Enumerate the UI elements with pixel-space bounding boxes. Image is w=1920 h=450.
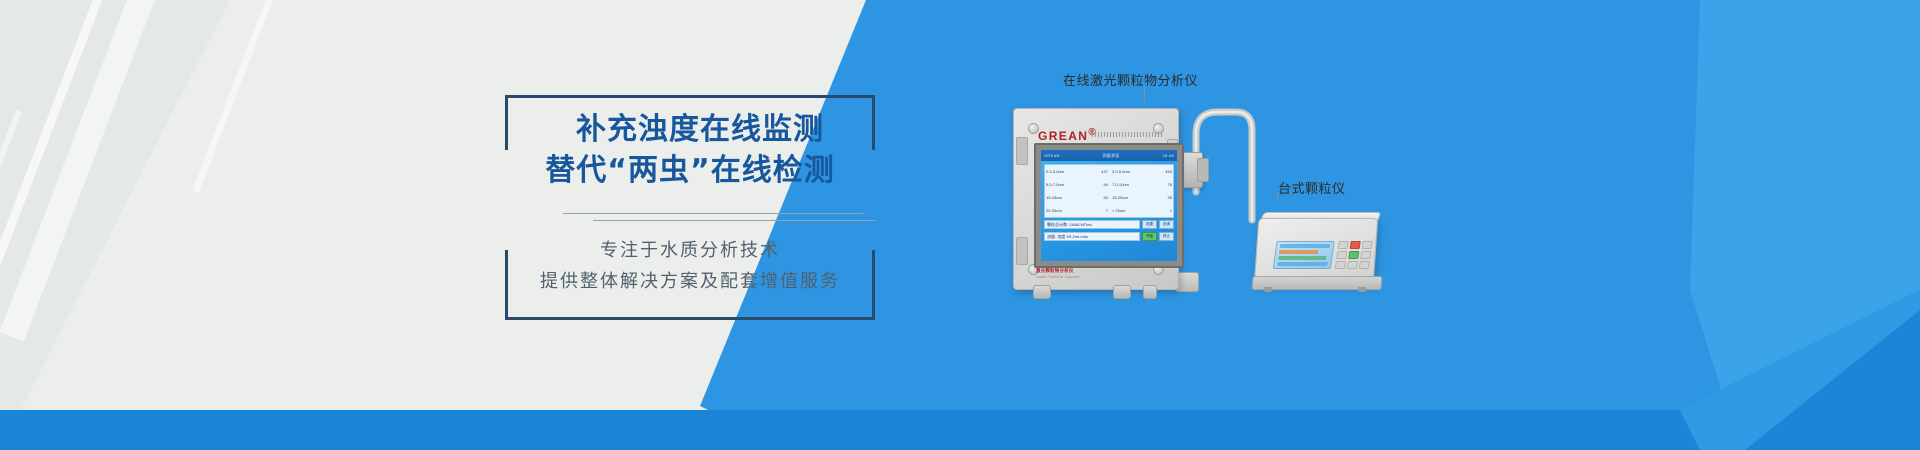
cell-range-b: 7.0-10um: [1109, 182, 1153, 187]
cell-count-b: 454: [1153, 169, 1173, 174]
screen-title-brand: GREAN: [1044, 153, 1060, 158]
bracket-top-line: [505, 95, 875, 98]
desktop-key[interactable]: [1359, 261, 1370, 269]
divider-group: [505, 213, 875, 227]
headline-line-2: 替代“两虫”在线检测: [505, 150, 875, 191]
cell-range-b: > 25um: [1109, 208, 1153, 213]
divider-line-2: [593, 220, 875, 221]
analyzer-footer-text: 激光颗粒物分析仪 Laser Particle Counter: [1036, 268, 1080, 279]
screen-total-field: 颗粒总计数: 1166CNT/mL: [1044, 220, 1140, 229]
table-row: 2.0-3.0um 447 3.0-5.0um 454: [1045, 165, 1173, 178]
desktop-screen-line-1: [1280, 244, 1331, 248]
screen-total-strip: 颗粒总计数: 1166CNT/mL 设置 查询: [1044, 220, 1174, 229]
analyzer-cable-gland-3: [1143, 285, 1157, 299]
bracket-bottom-line: [505, 317, 875, 320]
analyzer-cable-gland-1: [1033, 285, 1051, 299]
desktop-screen-line-3: [1278, 256, 1326, 260]
analyzer-enclosure: GREAN® GREAN 测量界面 09:46 2.0-3.0um 447 3.…: [1013, 108, 1179, 290]
desktop-key[interactable]: [1360, 251, 1371, 259]
analyzer-label: 在线激光颗粒物分析仪: [1063, 70, 1198, 89]
table-row: 10-15um 52 15-20um 35: [1045, 191, 1173, 204]
cell-count-b: 76: [1153, 182, 1173, 187]
screen-data-grid: 2.0-3.0um 447 3.0-5.0um 454 5.0-7.0um 94…: [1044, 164, 1174, 218]
subtitle-line-2: 提供整体解决方案及配套增值服务: [505, 266, 875, 297]
desktop-key[interactable]: [1335, 261, 1346, 269]
cell-range-a: 5.0-7.0um: [1045, 182, 1089, 187]
cell-range-a: 20-25um: [1045, 208, 1089, 213]
screen-title-clock: 09:46: [1162, 153, 1174, 158]
cell-count-b: 1: [1153, 208, 1173, 213]
analyzer-footer-line-2: Laser Particle Counter: [1036, 274, 1080, 279]
table-row: 20-25um 7 > 25um 1: [1045, 204, 1173, 217]
desktop-screen[interactable]: [1273, 241, 1335, 269]
cell-count-a: 52: [1089, 195, 1109, 200]
analyzer-display-bezel: GREAN 测量界面 09:46 2.0-3.0um 447 3.0-5.0um…: [1034, 143, 1184, 268]
desktop-screen-line-4: [1277, 262, 1328, 266]
analyzer-brand-text: GREAN: [1038, 129, 1088, 143]
cell-count-a: 94: [1089, 182, 1109, 187]
desktop-key-red[interactable]: [1350, 241, 1361, 249]
cell-range-b: 3.0-5.0um: [1109, 169, 1153, 174]
desktop-label: 台式颗粒仪: [1278, 178, 1346, 197]
desktop-key[interactable]: [1347, 261, 1358, 269]
screen-query-button[interactable]: 查询: [1159, 220, 1174, 229]
analyzer-cable-gland-2: [1113, 285, 1131, 299]
subtitle-line-1: 专注于水质分析技术: [505, 235, 875, 266]
screen-settings-button[interactable]: 设置: [1142, 220, 1157, 229]
subtitle: 专注于水质分析技术 提供整体解决方案及配套增值服务: [505, 235, 875, 297]
table-row: 5.0-7.0um 94 7.0-10um 76: [1045, 178, 1173, 191]
cell-range-a: 2.0-3.0um: [1045, 169, 1089, 174]
analyzer-hinge-bottom: [1016, 237, 1028, 265]
desktop-screen-line-2: [1279, 250, 1319, 254]
headline-panel: 补充浊度在线监测 替代“两虫”在线检测 专注于水质分析技术 提供整体解决方案及配…: [505, 95, 875, 320]
screen-start-button[interactable]: 开始: [1142, 232, 1157, 241]
desktop-key[interactable]: [1336, 251, 1347, 259]
analyzer-brand-rule: [1092, 132, 1162, 137]
desktop-label-leader: [1277, 192, 1278, 202]
screen-title-center: 测量界面: [1103, 153, 1120, 159]
headline: 补充浊度在线监测 替代“两虫”在线检测: [505, 109, 875, 191]
cell-count-a: 7: [1089, 208, 1109, 213]
analyzer-brand-logo: GREAN®: [1038, 127, 1097, 143]
desktop-foot-right: [1358, 287, 1366, 292]
desktop-key-green[interactable]: [1348, 251, 1359, 259]
promo-banner: 补充浊度在线监测 替代“两虫”在线检测 专注于水质分析技术 提供整体解决方案及配…: [0, 0, 1920, 450]
desktop-keypad[interactable]: [1335, 241, 1373, 271]
desktop-foot-left: [1264, 287, 1272, 292]
screen-flow-strip: 流量: 浓度 1R.2mL/min 开始 停止: [1044, 232, 1174, 241]
screen-titlebar: GREAN 测量界面 09:46: [1041, 150, 1177, 161]
analyzer-hinge-top: [1016, 137, 1028, 165]
analyzer-connector-cap: [1197, 158, 1209, 182]
cell-range-a: 10-15um: [1045, 195, 1089, 200]
headline-line-1: 补充浊度在线监测: [505, 109, 875, 150]
online-laser-particle-analyzer: GREAN® GREAN 测量界面 09:46 2.0-3.0um 447 3.…: [1005, 100, 1185, 295]
desktop-chassis: [1254, 218, 1379, 284]
screen-flow-field: 流量: 浓度 1R.2mL/min: [1044, 232, 1140, 241]
divider-line-1: [563, 213, 863, 214]
cell-count-b: 35: [1153, 195, 1173, 200]
desktop-key[interactable]: [1338, 241, 1349, 249]
desktop-key[interactable]: [1362, 241, 1373, 249]
cell-range-b: 15-20um: [1109, 195, 1153, 200]
screen-stop-button[interactable]: 停止: [1159, 232, 1174, 241]
desktop-particle-counter: [1250, 208, 1390, 303]
cell-count-a: 447: [1089, 169, 1109, 174]
analyzer-screen[interactable]: GREAN 测量界面 09:46 2.0-3.0um 447 3.0-5.0um…: [1041, 150, 1177, 261]
